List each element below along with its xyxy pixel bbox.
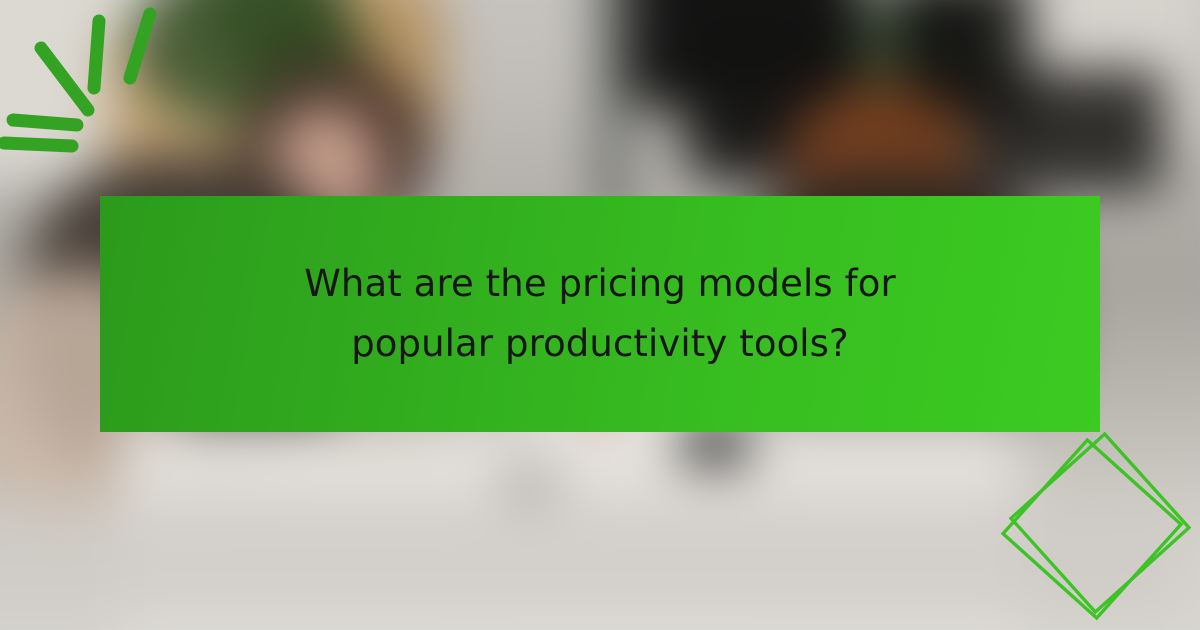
rotated-square-back [1003, 440, 1181, 618]
sunburst-ray [130, 14, 150, 78]
poster-canvas: What are the pricing models for popular … [0, 0, 1200, 630]
background-dark-shape [975, 70, 1165, 190]
sunburst-ray [4, 143, 72, 146]
sunburst-ray [94, 21, 99, 88]
rotated-squares-icon [985, 420, 1200, 630]
background-object [500, 460, 560, 504]
page-title: What are the pricing models for popular … [250, 254, 950, 374]
sunburst-ray [41, 48, 88, 110]
sunburst-icon [0, 0, 200, 180]
background-pole [600, 0, 626, 220]
headline-banner: What are the pricing models for popular … [100, 196, 1100, 432]
sunburst-ray [13, 120, 77, 125]
rotated-square-front [1011, 434, 1189, 612]
